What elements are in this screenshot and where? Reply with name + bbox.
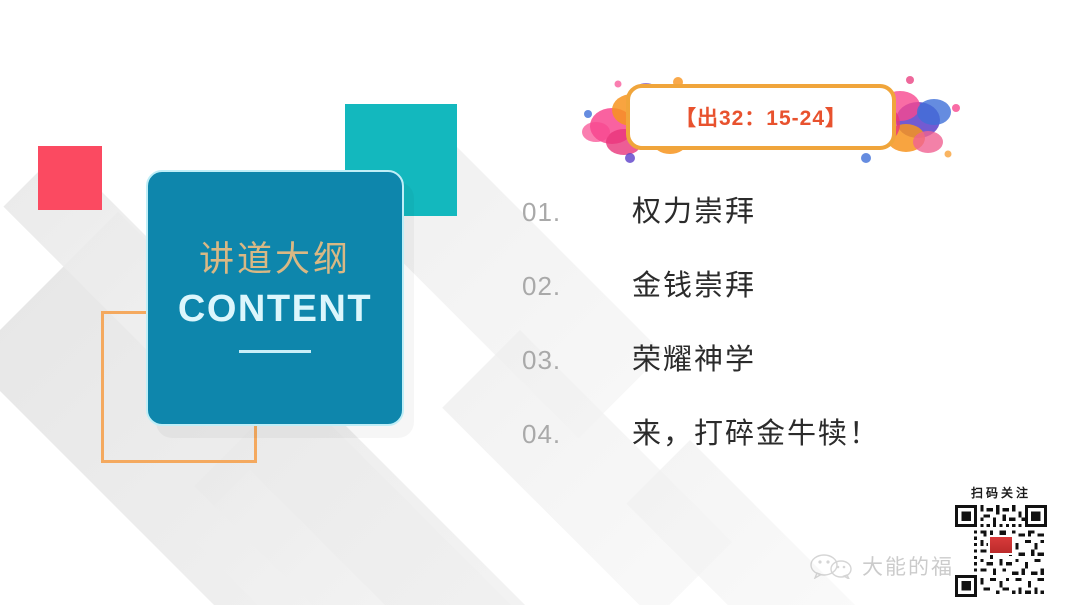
outline-item-label: 权力崇拜	[632, 188, 756, 230]
scripture-banner-box: 【出32：15-24】	[626, 84, 896, 150]
scripture-reference-text: 【出32：15-24】	[675, 102, 847, 132]
outline-item[interactable]: 02. 金钱崇拜	[522, 262, 992, 336]
card-divider-rule	[239, 350, 311, 353]
outline-item-number: 03.	[522, 345, 632, 376]
outline-item[interactable]: 03. 荣耀神学	[522, 336, 992, 410]
outline-item-label: 金钱崇拜	[632, 262, 756, 304]
qr-code-block[interactable]: 扫码关注	[947, 484, 1055, 597]
outline-list: 01. 权力崇拜 02. 金钱崇拜 03. 荣耀神学 04. 来，打碎金牛犊！	[522, 188, 992, 484]
background-band	[186, 470, 448, 605]
qr-code-image[interactable]	[955, 505, 1047, 597]
outline-item[interactable]: 04. 来，打碎金牛犊！	[522, 410, 992, 484]
outline-item-label: 荣耀神学	[632, 336, 756, 378]
outline-item-number: 04.	[522, 419, 632, 450]
qr-code-center-logo	[988, 535, 1014, 555]
outline-item-number: 01.	[522, 197, 632, 228]
outline-item[interactable]: 01. 权力崇拜	[522, 188, 992, 262]
wechat-icon	[810, 553, 856, 579]
outline-item-number: 02.	[522, 271, 632, 302]
slide-canvas: 讲道大纲 CONTENT	[0, 0, 1073, 605]
qr-caption: 扫码关注	[947, 484, 1055, 501]
outline-item-label: 来，打碎金牛犊！	[632, 410, 880, 452]
content-title-card: 讲道大纲 CONTENT	[146, 170, 404, 426]
card-title-english: CONTENT	[178, 290, 372, 328]
scripture-banner: 【出32：15-24】	[566, 62, 966, 174]
red-square-decoration	[38, 146, 102, 210]
card-title-chinese: 讲道大纲	[199, 243, 351, 278]
